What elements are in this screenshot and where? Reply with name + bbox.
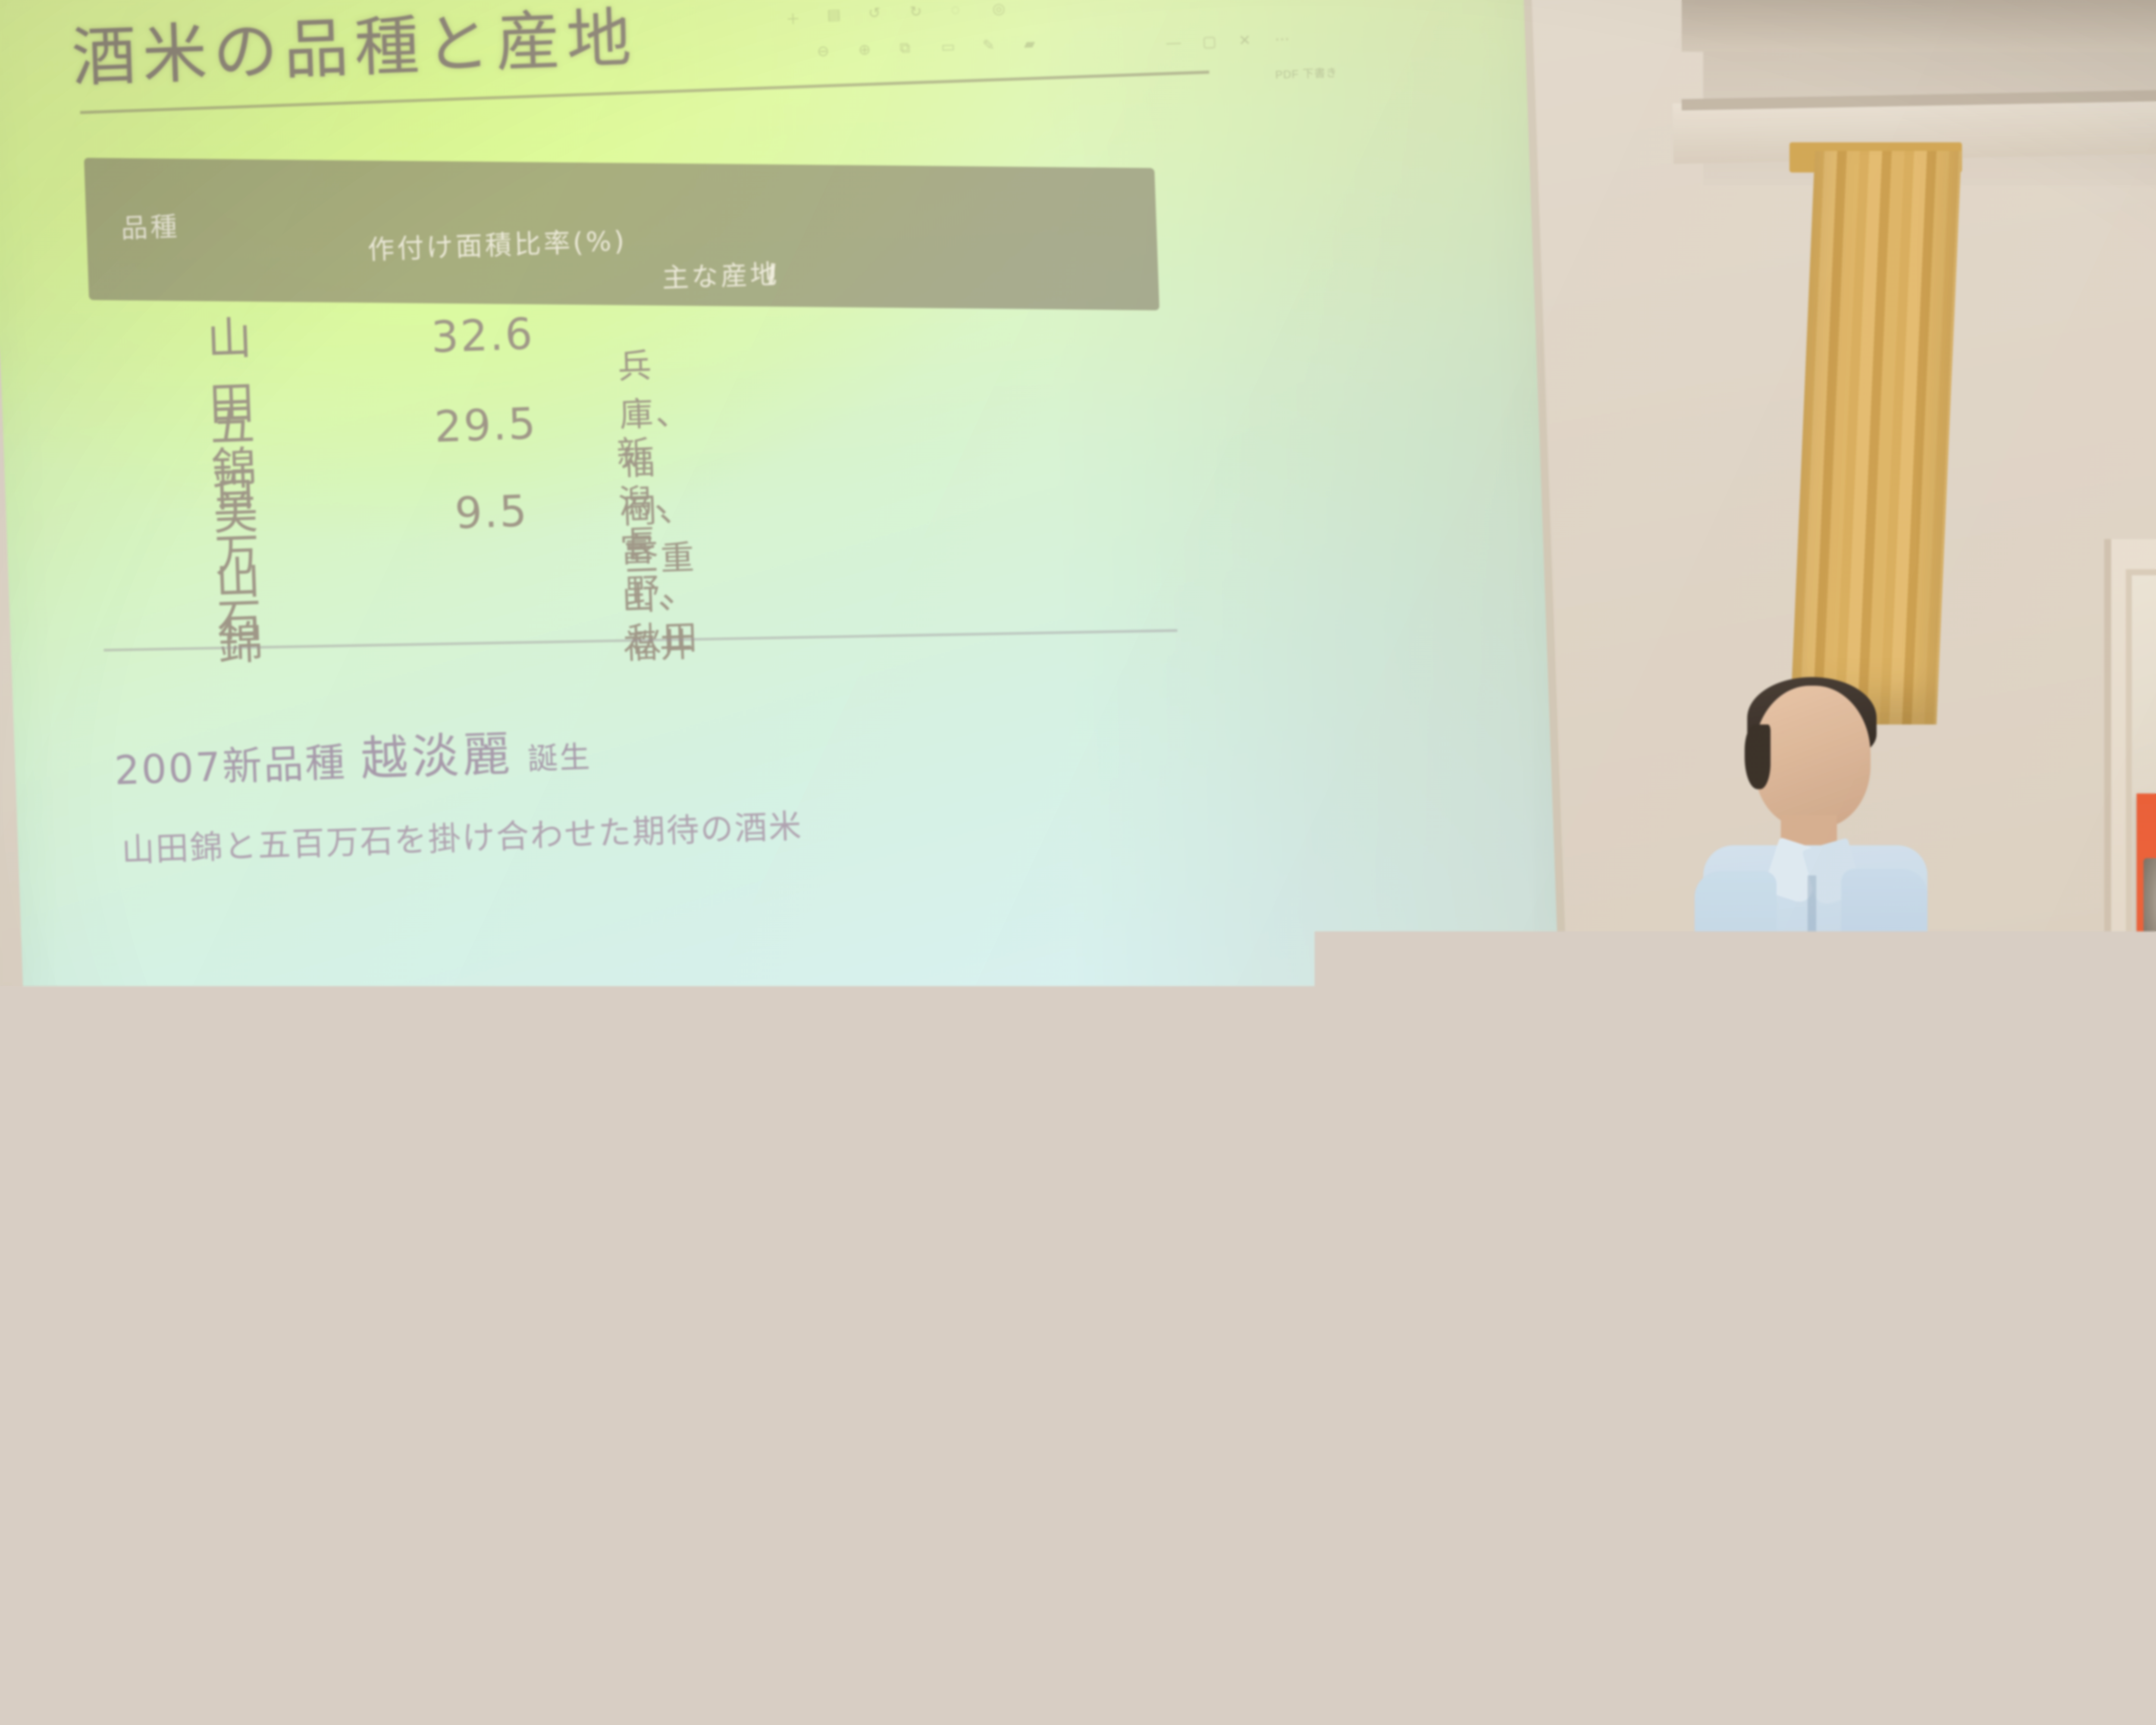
screenshot-root: ＋ ▤ ↺ ↻ ◌ ◎ ⊖ ⊕ ⧉ ▭ ✎ ▰ — ▢ ✕ ⋯ PDF 下書き … <box>0 0 2156 1725</box>
weather-widget[interactable]: 29°C くもり時々晴れ <box>26 1218 213 1289</box>
presenter-arm-left <box>1695 871 1777 1113</box>
taskbar-center-group[interactable]: ⊞ 🔍 ❖ <box>638 1222 769 1250</box>
note-birth: 誕生 <box>527 739 592 777</box>
tag-line <box>2135 1548 2156 1562</box>
volume-icon[interactable]: ◑ <box>1350 1192 1374 1216</box>
wall-poster <box>2137 793 2156 996</box>
chair-seat <box>1972 1618 2156 1725</box>
door-handle[interactable] <box>2111 983 2120 1113</box>
cell-share: 9.5 <box>454 486 530 539</box>
note-year: 2007 <box>114 744 223 794</box>
cell-share: 29.5 <box>433 398 538 452</box>
slide-content: 酒米の品種と産地 品種 作付け面積比率(%) 主な産地 山田錦 32.6 兵庫、… <box>0 0 1567 1258</box>
task-view-icon[interactable]: ❖ <box>745 1222 769 1246</box>
monitor-bezel <box>311 1124 515 1308</box>
trouser-seam <box>1810 1268 1817 1703</box>
pictogram-figure <box>1931 1487 1950 1518</box>
presenter-hair-side <box>1745 724 1771 789</box>
no-littering-icon <box>1920 1479 1962 1542</box>
new-variety-note: 2007新品種 越淡麗 誕生 <box>113 712 592 798</box>
slide-title: 酒米の品種と産地 <box>70 0 639 99</box>
monitor-brand-label: I-O DATA <box>369 1083 469 1107</box>
tag-line <box>2136 1561 2156 1574</box>
table-header-variety: 品種 <box>120 204 180 245</box>
cloud-icon <box>26 1239 61 1274</box>
lectern-front-panel <box>17 1310 904 1662</box>
tumbler <box>1209 1133 1296 1338</box>
pictogram-bar <box>1925 1524 1956 1535</box>
cell-share: 32.6 <box>430 308 535 362</box>
ceiling-band <box>1682 0 2156 52</box>
note-variety: 越淡麗 <box>360 726 514 787</box>
shirt-placket <box>1808 875 1816 1203</box>
windows-start-icon[interactable]: ⊞ <box>638 1226 662 1250</box>
weather-condition: くもり時々晴れ <box>70 1255 161 1276</box>
trash-bin-slot <box>1904 1345 1972 1371</box>
search-icon[interactable]: 🔍 <box>692 1224 716 1248</box>
cell-variety: 美山錦 <box>212 476 266 673</box>
new-variety-description: 山田錦と五百万石を掛け合わせた期待の酒米 <box>121 800 803 871</box>
window-curtain <box>1790 151 1962 724</box>
desktop-monitor: I-O DATA <box>269 1066 550 1323</box>
desk-asset-tag <box>2128 1541 2156 1599</box>
presenter-head <box>1754 686 1871 828</box>
weather-text: 29°C くもり時々晴れ <box>69 1232 161 1276</box>
note-label: 新品種 <box>222 739 348 790</box>
weather-temperature: 29°C <box>69 1232 161 1258</box>
corridor-floor <box>2126 1272 2156 1458</box>
poster-photo <box>2143 858 2156 966</box>
table-header-regions: 主な産地 <box>661 252 780 295</box>
bottle-label <box>1288 1267 1315 1320</box>
